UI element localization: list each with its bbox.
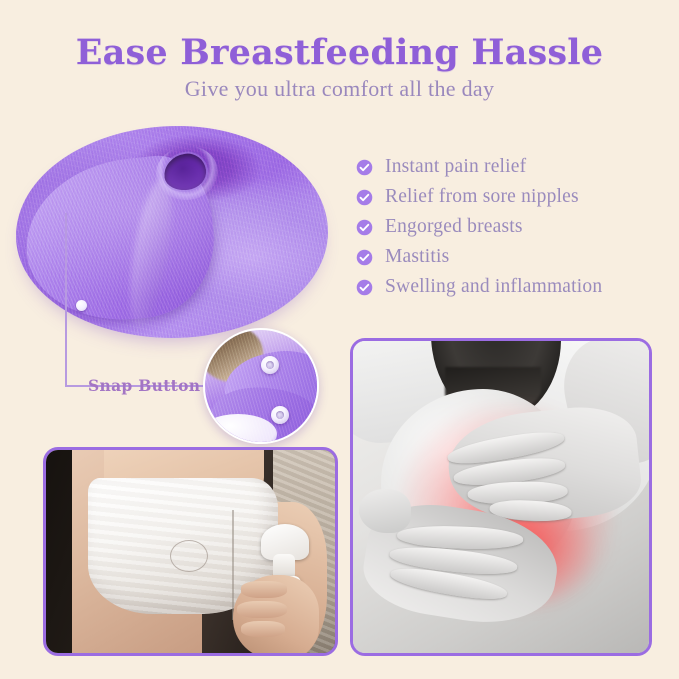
nipple-opening-rim <box>153 142 222 204</box>
list-item: Mastitis <box>356 242 672 272</box>
infographic-root: Ease Breastfeeding Hassle Give you ultra… <box>0 0 679 679</box>
benefit-label: Engorged breasts <box>385 216 523 238</box>
pumping-photo-panel <box>43 447 338 656</box>
pad-snap-button <box>76 300 87 311</box>
plush-texture-overlay <box>205 330 317 442</box>
snap-button-closeup-inset <box>203 328 319 444</box>
callout-line-vertical <box>65 213 67 386</box>
list-item: Swelling and inflammation <box>356 272 672 302</box>
list-item: Engorged breasts <box>356 212 672 242</box>
snap-button-label: Snap Button <box>88 376 200 395</box>
plush-pad-body <box>16 126 328 338</box>
check-circle-icon <box>356 159 373 176</box>
page-subtitle: Give you ultra comfort all the day <box>0 76 679 102</box>
check-circle-icon <box>356 279 373 296</box>
product-pad-photo <box>8 118 338 350</box>
benefit-label: Instant pain relief <box>385 156 526 178</box>
bra-zipper <box>232 510 234 620</box>
pad-fold-flap <box>18 151 222 330</box>
nipple-opening <box>162 151 209 192</box>
check-circle-icon <box>356 189 373 206</box>
check-circle-icon <box>356 249 373 266</box>
hand-holding-pump <box>233 575 319 656</box>
pain-relief-photo-panel <box>350 338 652 656</box>
benefit-label: Relief from sore nipples <box>385 186 579 208</box>
finger <box>241 581 287 598</box>
finger <box>241 621 285 637</box>
bra-pump-opening <box>170 540 208 572</box>
check-circle-icon <box>356 219 373 236</box>
list-item: Relief from sore nipples <box>356 182 672 212</box>
finger <box>237 601 287 618</box>
pad-seam <box>122 176 179 329</box>
list-item: Instant pain relief <box>356 152 672 182</box>
benefit-label: Mastitis <box>385 246 449 268</box>
benefits-list: Instant pain relief Relief from sore nip… <box>356 152 672 302</box>
thumb <box>359 489 411 533</box>
page-title: Ease Breastfeeding Hassle <box>0 32 679 73</box>
benefit-label: Swelling and inflammation <box>385 276 602 298</box>
